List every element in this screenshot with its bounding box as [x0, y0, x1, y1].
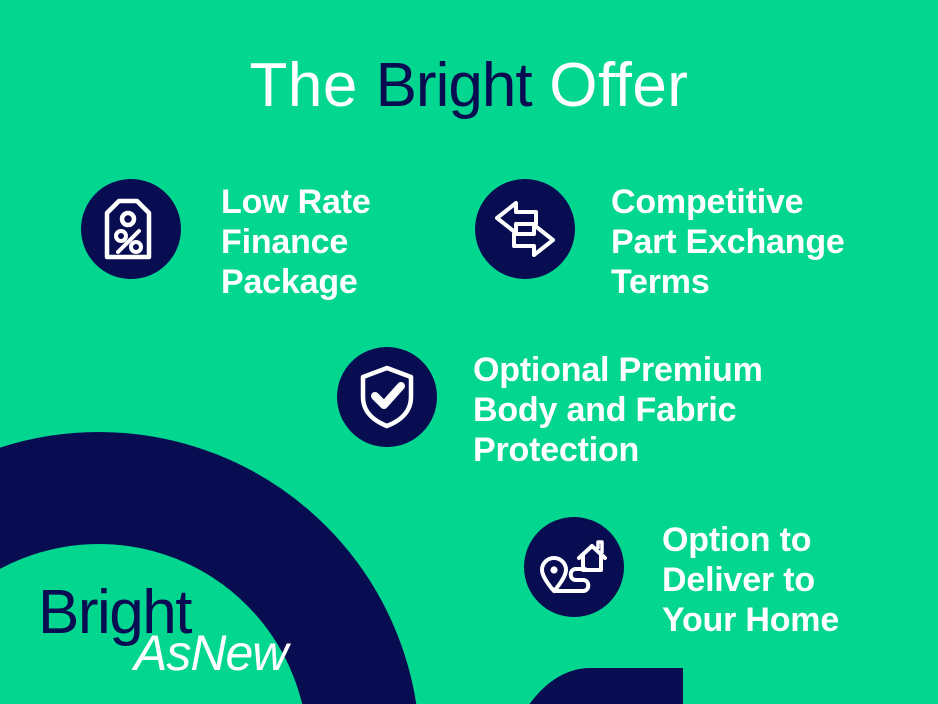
promo-graphic: The Bright Offer Low Rate Finance Packag…: [0, 0, 938, 704]
logo-secondary-text: AsNew: [134, 628, 287, 678]
page-title: The Bright Offer: [0, 48, 938, 124]
background-arc-decoration: [497, 668, 683, 704]
headline-prefix: The: [250, 51, 376, 120]
feature-icon-badge: [475, 179, 575, 279]
price-tag-percent-icon: [103, 197, 159, 261]
map-pin-house-delivery-icon: [540, 536, 608, 598]
feature-item-home-delivery: Option to Deliver to Your Home: [524, 517, 839, 640]
feature-icon-badge: [337, 347, 437, 447]
feature-item-body-fabric-protection: Optional Premium Body and Fabric Protect…: [337, 347, 763, 470]
feature-icon-badge: [81, 179, 181, 279]
feature-label: Competitive Part Exchange Terms: [611, 179, 845, 302]
feature-item-part-exchange: Competitive Part Exchange Terms: [475, 179, 845, 302]
feature-label: Low Rate Finance Package: [221, 179, 371, 302]
shield-check-icon: [358, 365, 416, 429]
feature-label: Optional Premium Body and Fabric Protect…: [473, 347, 763, 470]
brand-logo: Bright AsNew: [38, 582, 338, 692]
feature-item-low-rate-finance: Low Rate Finance Package: [81, 179, 371, 302]
feature-icon-badge: [524, 517, 624, 617]
headline-suffix: Offer: [532, 51, 689, 120]
feature-label: Option to Deliver to Your Home: [662, 517, 839, 640]
exchange-arrows-icon: [494, 200, 556, 258]
headline-brand: Bright: [376, 51, 532, 120]
